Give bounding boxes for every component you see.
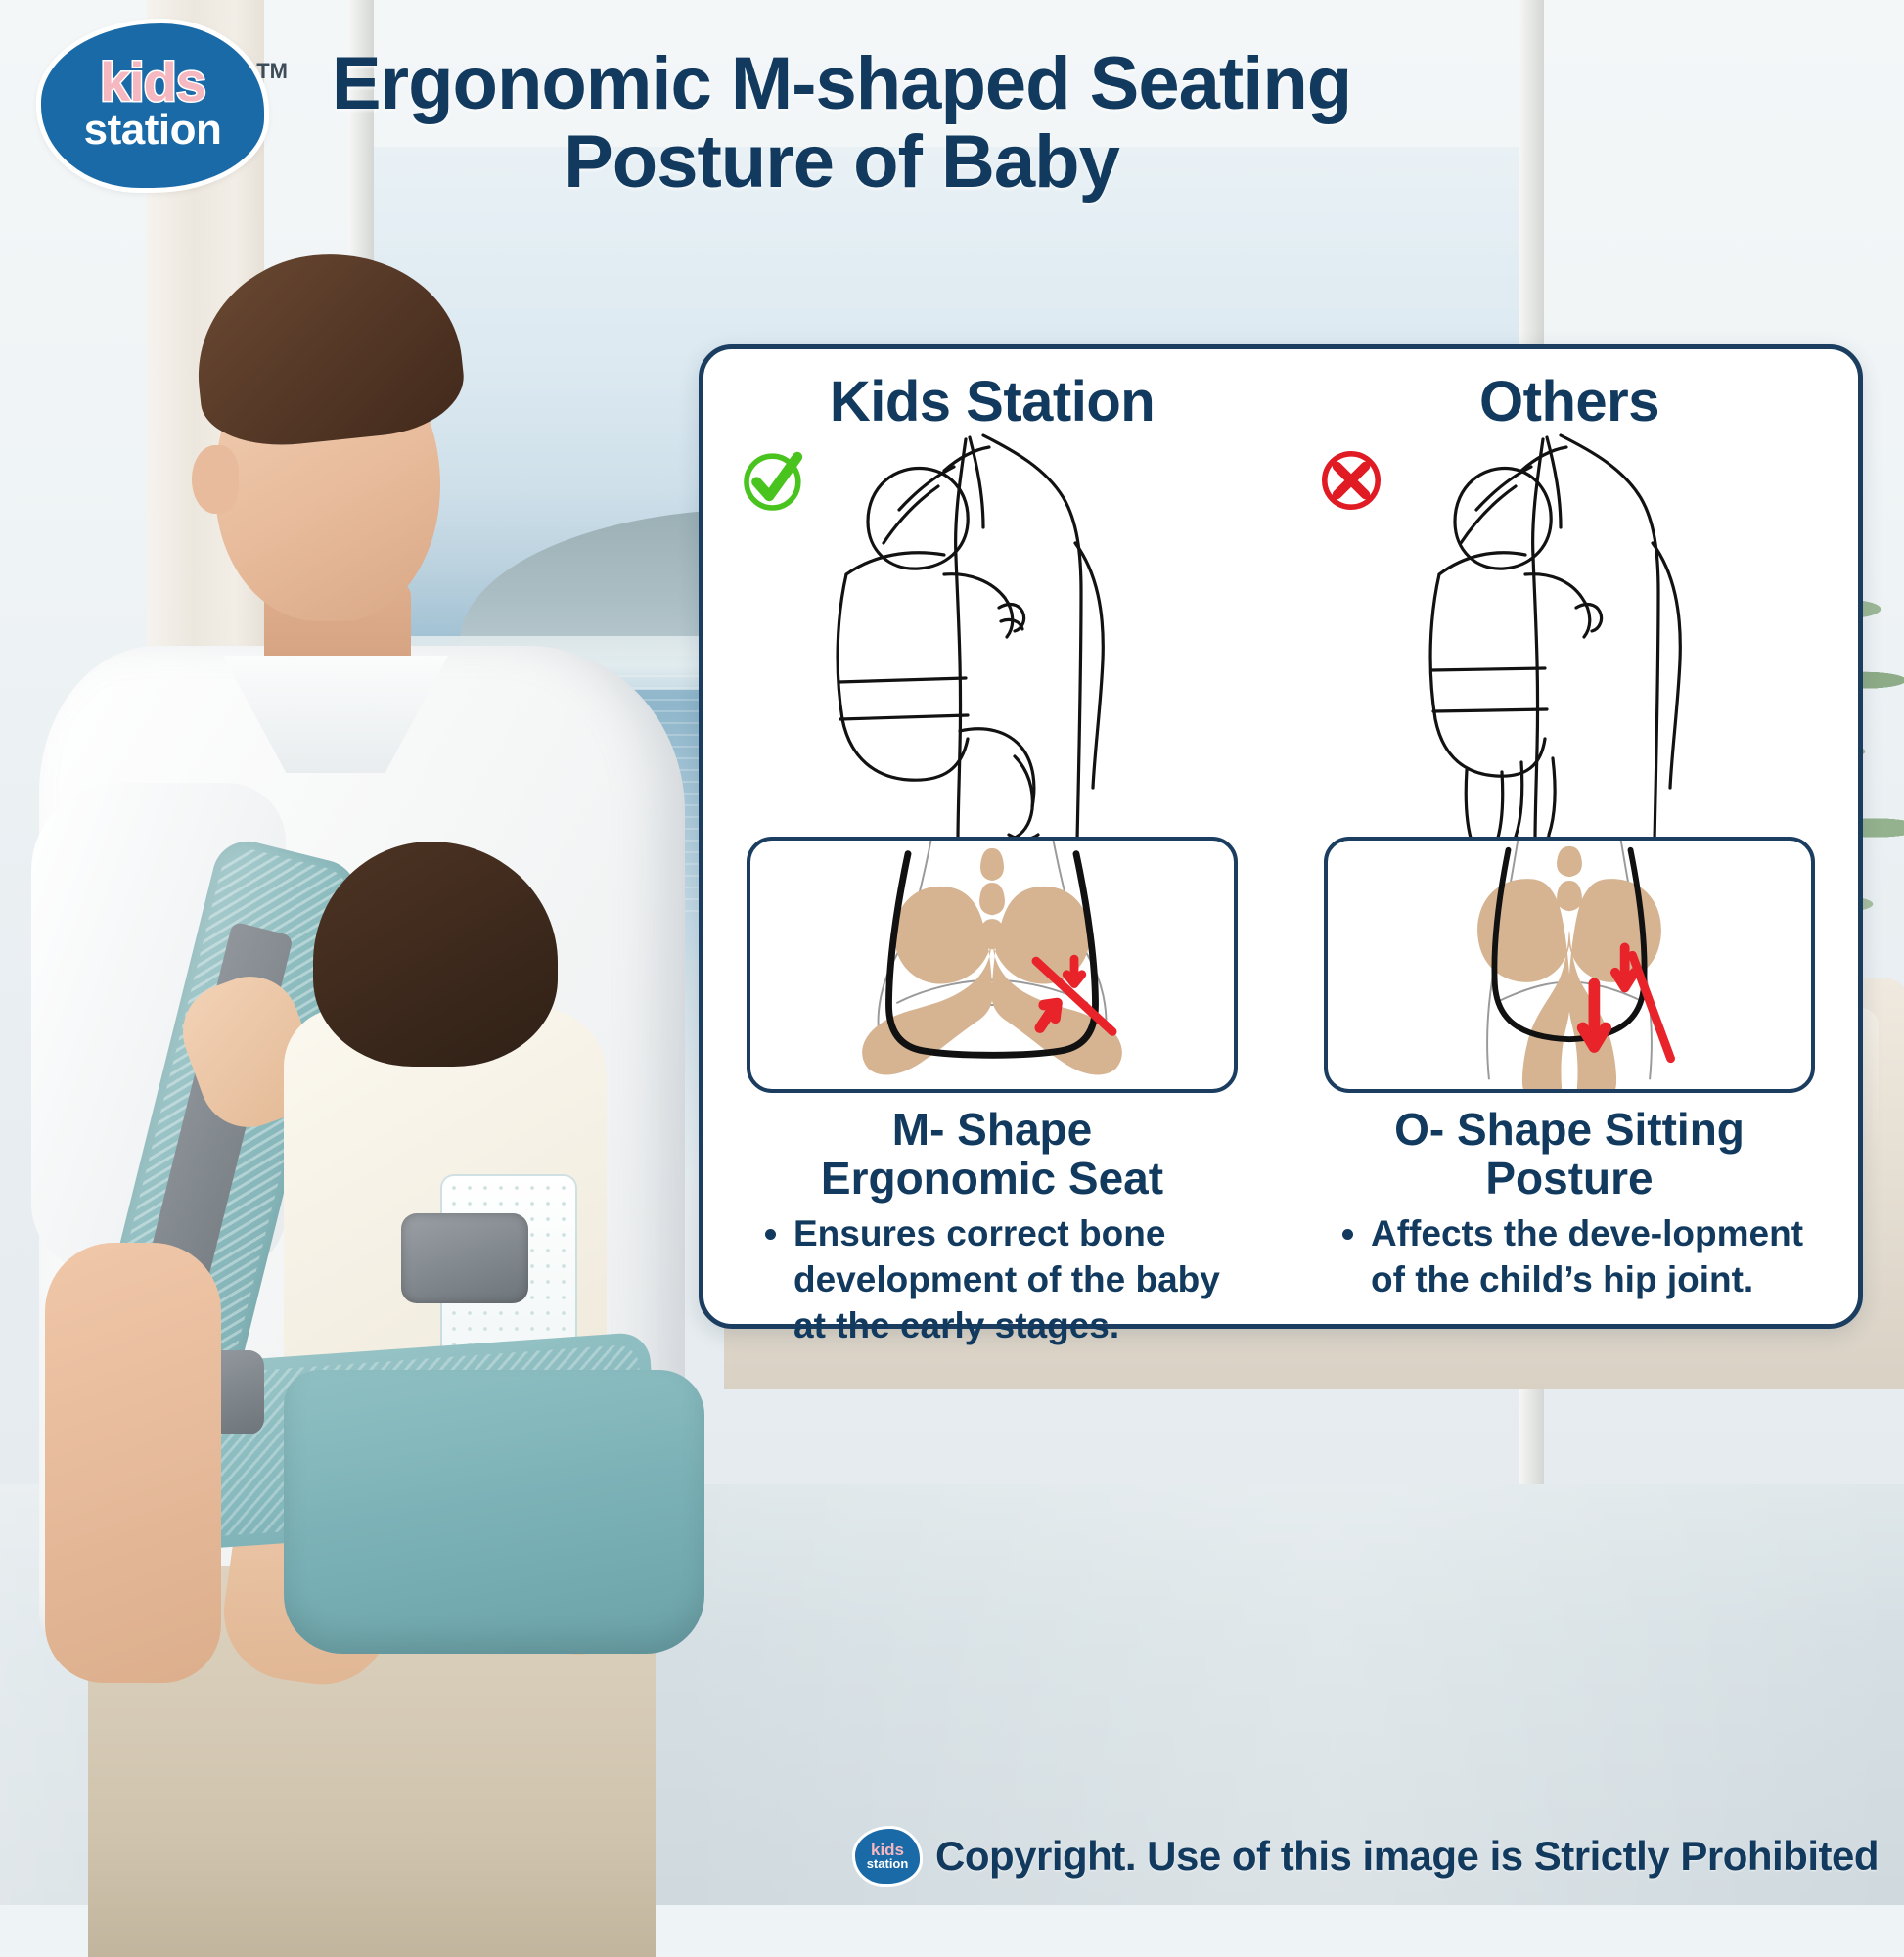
sub-title-m-shape-line-1: M- Shape <box>713 1105 1271 1154</box>
pelvis-card-o-shape <box>1324 837 1815 1093</box>
copyright-text: Copyright. Use of this image is Strictly… <box>935 1833 1879 1880</box>
page-title-line-1: Ergonomic M-shaped Seating <box>294 45 1389 123</box>
illustration-correct-carry <box>752 426 1163 846</box>
comparison-card: Kids Station <box>699 344 1863 1329</box>
page-title-line-2: Posture of Baby <box>294 123 1389 202</box>
comparison-column-others: Others <box>1281 349 1858 1324</box>
footer-kids-station-logo: kids station <box>855 1829 920 1884</box>
kids-station-logo: kids station TM <box>41 23 264 188</box>
father-ear <box>192 445 239 514</box>
pelvis-m-shape-diagram <box>750 841 1234 1089</box>
footer-logo-text-kids: kids <box>871 1843 904 1857</box>
carrier-chest-buckle <box>401 1213 528 1303</box>
sub-title-o-shape-line-1: O- Shape Sitting <box>1291 1105 1848 1154</box>
father-hair <box>187 241 469 453</box>
logo-text-kids: kids <box>100 58 205 107</box>
bullets-m-shape: Ensures correct bone development of the … <box>758 1210 1246 1348</box>
trademark-symbol: TM <box>256 59 288 84</box>
page-title: Ergonomic M-shaped Seating Posture of Ba… <box>294 45 1389 202</box>
pelvis-o-shape-diagram <box>1328 841 1811 1089</box>
sub-title-m-shape-line-2: Ergonomic Seat <box>713 1154 1271 1203</box>
sub-title-m-shape: M- Shape Ergonomic Seat <box>713 1105 1271 1203</box>
father-arm <box>45 1243 221 1683</box>
carrier-hip-seat <box>284 1370 704 1654</box>
sub-title-o-shape: O- Shape Sitting Posture <box>1291 1105 1848 1203</box>
bullets-o-shape: Affects the deve-lopment of the child’s … <box>1336 1210 1823 1302</box>
column-heading-others: Others <box>1281 369 1858 434</box>
comparison-column-kids-station: Kids Station <box>703 349 1281 1324</box>
bullet-item: Ensures correct bone development of the … <box>793 1210 1246 1348</box>
illustration-incorrect-carry <box>1330 426 1741 846</box>
footer-logo-text-station: station <box>867 1857 909 1871</box>
father-with-baby-carrier-photo <box>20 235 763 1898</box>
bullet-item: Affects the deve-lopment of the child’s … <box>1371 1210 1823 1302</box>
pelvis-card-m-shape <box>747 837 1238 1093</box>
logo-text-station: station <box>84 107 222 154</box>
column-heading-kids-station: Kids Station <box>703 369 1281 434</box>
sub-title-o-shape-line-2: Posture <box>1291 1154 1848 1203</box>
footer-copyright-bar: kids station Copyright. Use of this imag… <box>0 1829 1904 1884</box>
